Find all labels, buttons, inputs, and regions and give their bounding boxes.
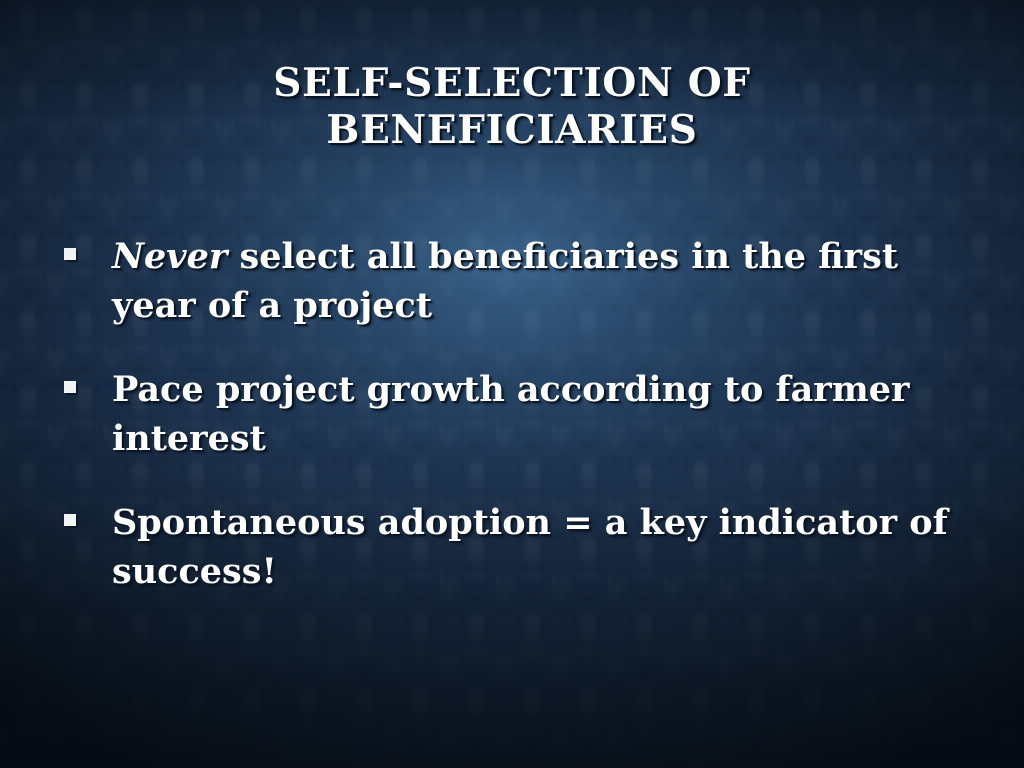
square-bullet-icon — [64, 381, 76, 393]
bullet-emphasis-1: Never — [112, 236, 227, 277]
slide-title-line-2: BENEFICIARIES — [112, 107, 912, 154]
list-item: Spontaneous adoption = a key indicator o… — [0, 498, 1024, 596]
slide-bullet-list: Never select all beneficiaries in the fi… — [0, 232, 1024, 596]
presentation-slide: SELF-SELECTION OF BENEFICIARIES Never se… — [0, 0, 1024, 768]
slide-title-line-1: SELF-SELECTION OF — [112, 60, 912, 107]
list-item: Never select all beneficiaries in the fi… — [0, 232, 1024, 330]
bullet-rest-1: select all beneficiaries in the first ye… — [112, 236, 898, 326]
list-item: Pace project growth according to farmer … — [0, 365, 1024, 463]
bullet-text-2: Pace project growth according to farmer … — [112, 365, 984, 463]
square-bullet-icon — [64, 514, 76, 526]
square-bullet-icon — [64, 248, 76, 260]
bullet-text-3: Spontaneous adoption = a key indicator o… — [112, 498, 984, 596]
slide-content: SELF-SELECTION OF BENEFICIARIES Never se… — [0, 0, 1024, 768]
slide-title: SELF-SELECTION OF BENEFICIARIES — [112, 60, 912, 154]
bullet-text-1: Never select all beneficiaries in the fi… — [112, 232, 984, 330]
